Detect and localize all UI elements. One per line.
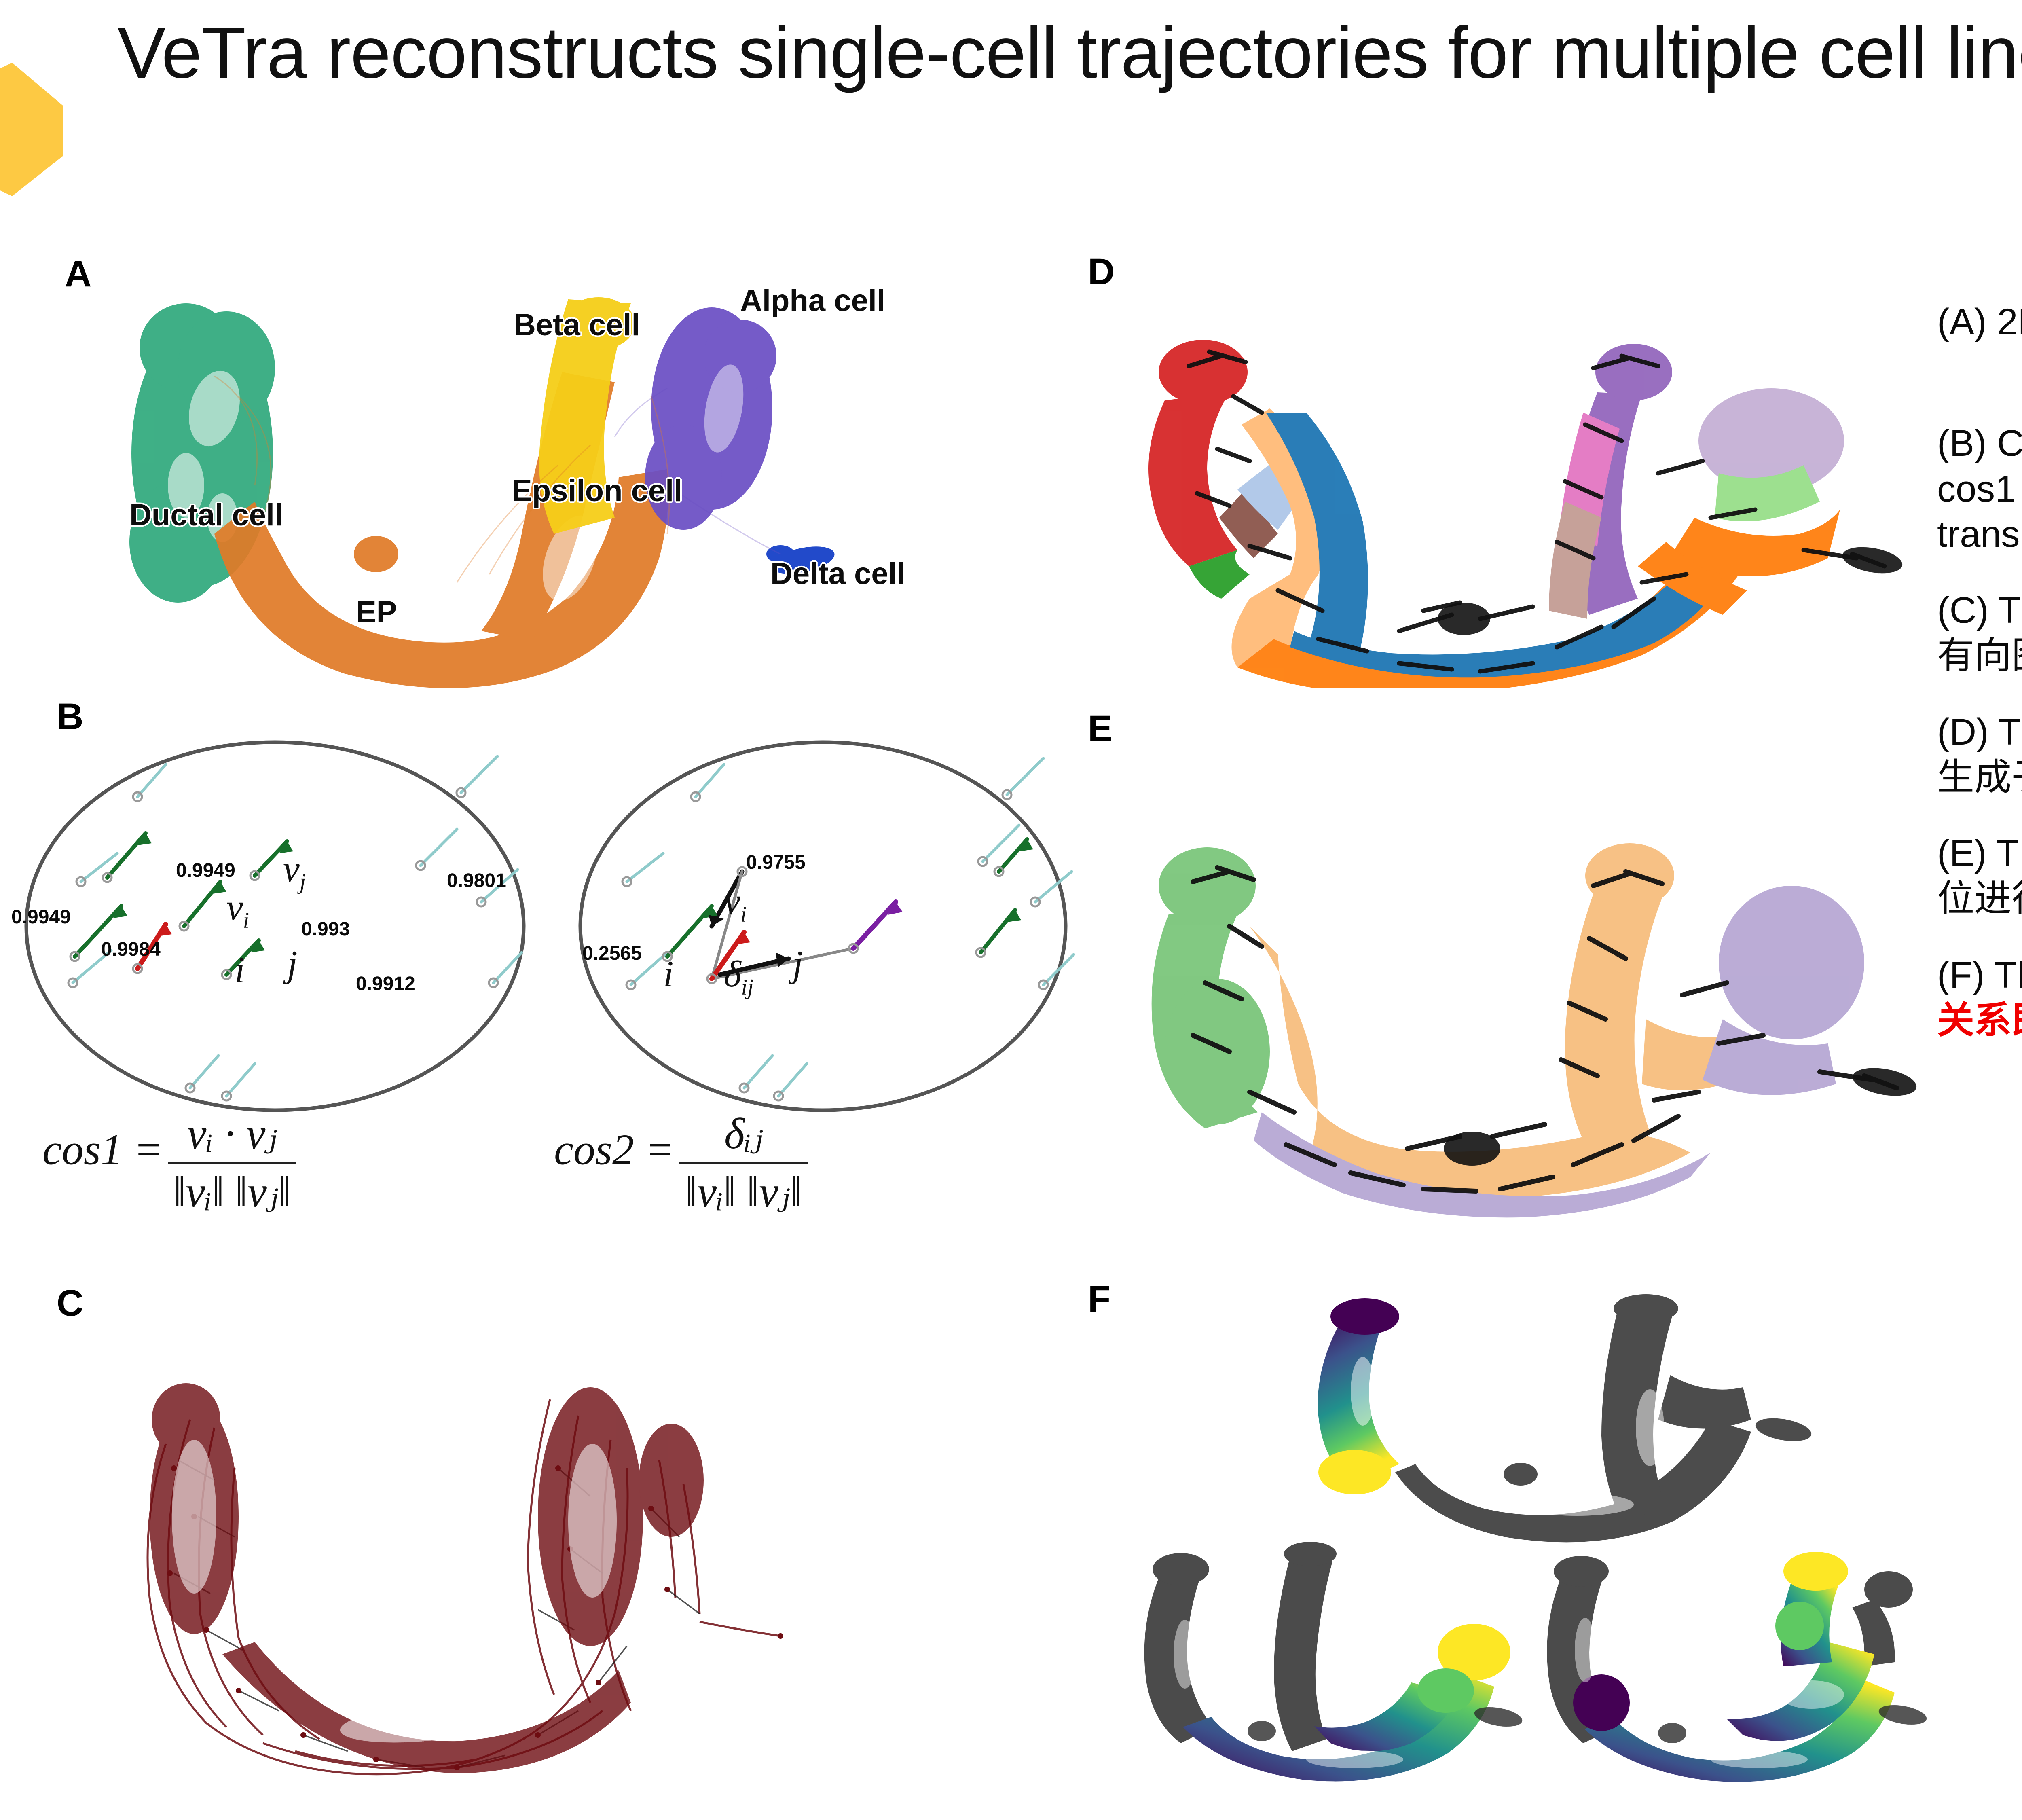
panel-f-pseudotime-subplot-1 [1294,1294,1840,1545]
panel-b-value-left-6: 0.9912 [356,973,415,995]
caption-column: (A) 2D embedding plot using the scRNAseq… [1937,299,2022,1074]
panel-b-symbol-i-left: i [235,948,245,991]
panel-b-value-left-5: 0.9801 [447,870,506,892]
panel-label-a: A [65,253,91,295]
panel-b-value-left-3: 0.9984 [101,938,161,961]
caption-a-line1: (A) 2D embedding plot using the scRNAseq… [1937,301,2022,343]
panel-a-label-epsilon-cell: Epsilon cell [512,473,682,508]
caption-f: (F) The pseudo-time for each lineage ide… [1937,952,2022,1043]
caption-b: (B) Cosine similarity to search for the … [1937,421,2022,557]
panel-b-value-right-1: 0.2565 [582,942,642,965]
formula-cos2-lhs: cos2 = [554,1126,675,1174]
panel-label-e: E [1088,708,1113,750]
panel-b-value-left-4: 0.993 [301,918,350,940]
panel-label-b: B [57,696,83,738]
formula-cos2-numerator: δᵢⱼ [719,1108,769,1162]
panel-b-symbol-vj-left: vj [283,847,306,894]
slide-title: VeTra reconstructs single-cell trajector… [117,12,2022,94]
formula-cos2: cos2 = δᵢⱼ ‖vᵢ‖ ‖vⱼ‖ [554,1108,811,1217]
panel-b-symbol-j-right: j [793,942,803,985]
caption-a: (A) 2D embedding plot using the scRNAseq… [1937,299,2022,390]
panel-b-symbol-vi-left: vi [226,886,249,933]
formula-cos1-lhs: cos1 = [42,1126,163,1174]
formula-cos1-denominator: ‖vᵢ‖ ‖vⱼ‖ [168,1162,296,1217]
panel-b-value-left-2: 0.9949 [11,906,71,928]
formula-cos1-numerator: vᵢ · vⱼ [181,1108,283,1162]
caption-f-black-part1: (F) The pseudo-time for each lineage ide… [1937,954,2022,996]
panel-b-value-left-1: 0.9949 [176,859,235,882]
panel-c-directed-graph [93,1347,1023,1792]
slide-root: VeTra reconstructs single-cell trajector… [0,0,2022,1820]
panel-a-label-delta-cell: Delta cell [770,556,905,591]
caption-e: (E) The grouped WCCs using a hierarchica… [1937,831,2022,921]
panel-a-label-ep: EP [356,595,397,630]
panel-a-label-alpha-cell: Alpha cell [740,283,885,318]
panel-d-wcc-plot [1116,291,1925,688]
hexagon-decoration-left [0,63,63,196]
panel-f-pseudotime-subplot-2 [1128,1533,1533,1784]
caption-d: (D) The WCCs obtained using all possible… [1937,709,2022,800]
panel-label-f: F [1088,1278,1110,1321]
caption-a-line2: pancreatic development. （UMAP降维） [1937,345,2022,390]
panel-e-grouped-wcc-plot [1116,793,1925,1238]
panel-b-value-right-2: 0.9755 [746,851,806,874]
panel-b-cosine-diagram [16,732,1100,1120]
panel-f-pseudotime-subplot-3 [1533,1533,1937,1784]
panel-b-symbol-j-left: j [287,942,298,985]
formula-cos1: cos1 = vᵢ · vⱼ ‖vᵢ‖ ‖vⱼ‖ [42,1108,300,1217]
panel-label-d: D [1088,251,1115,293]
panel-a-label-beta-cell: Beta cell [514,307,640,343]
formula-cos2-denominator: ‖vᵢ‖ ‖vⱼ‖ [679,1162,808,1217]
panel-label-c: C [57,1282,83,1325]
panel-b-symbol-i-right: i [663,952,674,995]
panel-b-symbol-vi-right: vi [724,880,747,927]
panel-a-label-ductal-cell: Ductal cell [129,497,283,533]
panel-b-symbol-delta-ij: δij [724,952,753,999]
caption-c: (C) The directed graph obtained by apply… [1937,588,2022,678]
